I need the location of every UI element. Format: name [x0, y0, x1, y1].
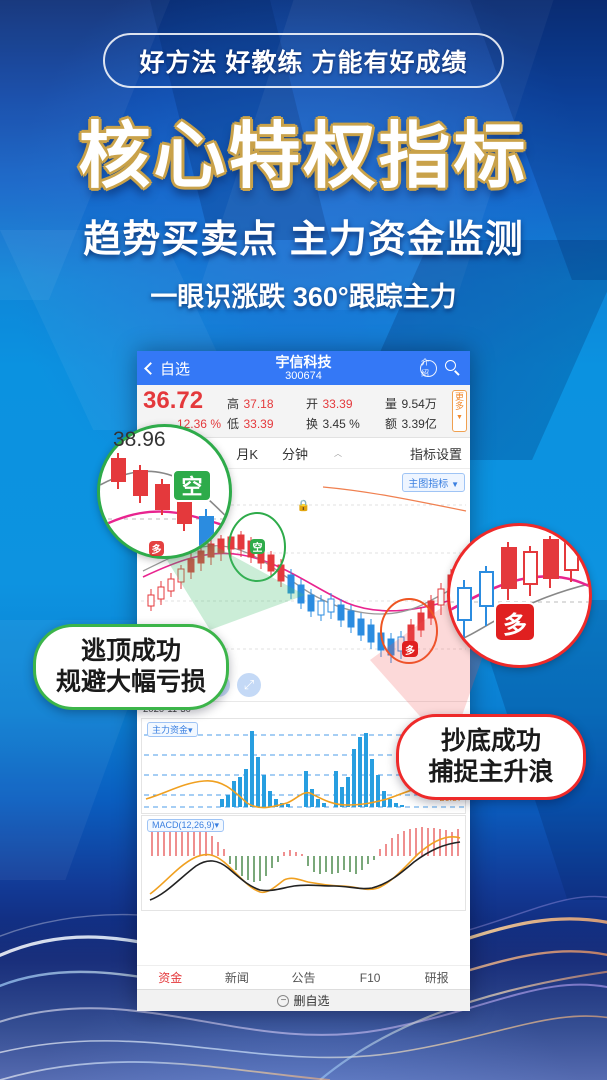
- chevron-down-icon: ▾: [215, 820, 220, 830]
- signal-chip-long-1: 多: [149, 541, 164, 556]
- main-index-dropdown[interactable]: 主图指标 ▼: [402, 473, 465, 492]
- tab-minute[interactable]: 分钟: [282, 444, 308, 463]
- magnifier-price-label: 38.96: [113, 428, 166, 452]
- volume-label: 量: [385, 397, 397, 411]
- more-label: 更多: [453, 393, 466, 412]
- magnifier-long-chip: 多: [494, 602, 536, 642]
- main-index-label: 主图指标: [408, 479, 448, 490]
- chevron-down-icon: ▼: [451, 480, 459, 489]
- macd-panel[interactable]: MACD(12,26,9)▾: [141, 815, 466, 911]
- tab-indicator-settings[interactable]: 指标设置: [410, 444, 462, 463]
- capital-flow-tag[interactable]: 主力资金▾: [147, 722, 198, 737]
- low-value: 33.39: [243, 417, 273, 431]
- app-navbar: 自选 宇信科技 300674 介绍: [137, 351, 470, 385]
- turnover-value: 3.45 %: [322, 417, 359, 431]
- open-label: 开: [306, 397, 318, 411]
- volume-value: 9.54万: [401, 397, 436, 411]
- open-value: 33.39: [322, 397, 352, 411]
- more-button[interactable]: 更多 ▼: [452, 390, 467, 432]
- magnifier-long-signal: 多: [447, 523, 592, 668]
- callout-buy-line1: 抄底成功: [441, 726, 541, 757]
- signal-chip-long-2: 多: [402, 641, 418, 657]
- low-label: 低: [227, 417, 239, 431]
- magnifier-long-svg: [450, 526, 589, 665]
- chevron-down-icon: ▾: [188, 725, 193, 735]
- search-icon[interactable]: [445, 360, 461, 376]
- bottom-tab-funds[interactable]: 资金: [137, 969, 204, 986]
- bottom-tab-f10[interactable]: F10: [337, 971, 404, 985]
- amount-value: 3.39亿: [401, 417, 436, 431]
- high-label: 高: [227, 397, 239, 411]
- stock-title: 宇信科技 300674: [137, 355, 470, 382]
- callout-escape-line2: 规避大幅亏损: [56, 667, 206, 698]
- callout-escape-top: 逃顶成功 规避大幅亏损: [33, 624, 229, 710]
- macd-tag[interactable]: MACD(12,26,9)▾: [147, 819, 224, 832]
- tagline-pill: 好方法 好教练 方能有好成绩: [103, 33, 504, 88]
- remove-watchlist-bar[interactable]: − 删自选: [137, 989, 470, 1011]
- subtitle-primary: 趋势买卖点 主力资金监测: [0, 208, 607, 263]
- tab-month-k[interactable]: 月K: [236, 444, 258, 463]
- stock-name: 宇信科技: [137, 355, 470, 369]
- subtitle-secondary: 一眼识涨跌 360°跟踪主力: [0, 275, 607, 314]
- signal-chip-short-1: 空: [250, 539, 265, 554]
- chevron-down-icon: ▼: [456, 414, 463, 421]
- bottom-tab-announcements[interactable]: 公告: [270, 969, 337, 986]
- magnifier-short-chip: 空: [172, 469, 212, 502]
- tagline-text: 好方法 好教练 方能有好成绩: [140, 43, 468, 79]
- high-value: 37.18: [243, 397, 273, 411]
- page-title: 核心特权指标: [0, 97, 607, 202]
- last-price: 36.72: [143, 387, 203, 414]
- remove-watchlist-label: 删自选: [293, 992, 329, 1009]
- bottom-tab-bar: 资金 新闻 公告 F10 研报: [137, 965, 470, 989]
- capital-flow-label: 主力资金: [152, 725, 188, 735]
- macd-label: MACD(12,26,9): [152, 820, 215, 830]
- amount-label: 额: [385, 417, 397, 431]
- minus-circle-icon: −: [277, 995, 289, 1007]
- callout-buy-bottom: 抄底成功 捕捉主升浪: [396, 714, 586, 800]
- bottom-tab-research[interactable]: 研报: [403, 969, 470, 986]
- callout-buy-line2: 捕捉主升浪: [428, 757, 553, 788]
- fullscreen-button[interactable]: ⤢: [237, 673, 261, 697]
- stock-code: 300674: [137, 371, 470, 382]
- chevron-up-icon: ︿: [334, 448, 342, 459]
- bottom-tab-news[interactable]: 新闻: [204, 969, 271, 986]
- turnover-label: 换: [306, 417, 318, 431]
- callout-escape-line1: 逃顶成功: [81, 636, 181, 667]
